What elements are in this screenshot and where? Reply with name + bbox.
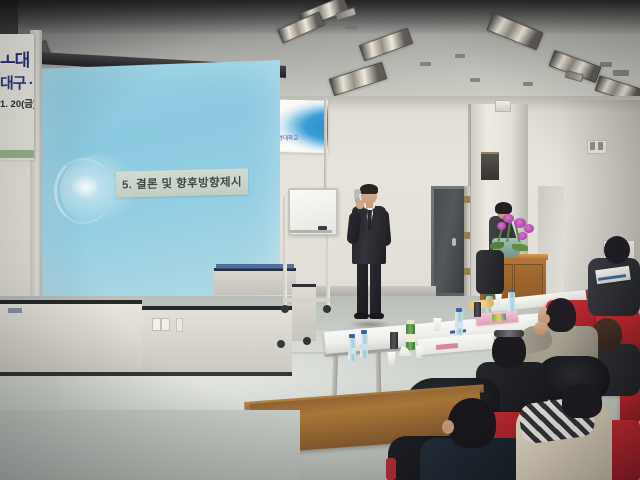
wall-speaker-icon	[481, 152, 499, 180]
switch-toggle[interactable]	[590, 142, 595, 150]
poster-accent-bar	[0, 150, 34, 158]
foreground-floor	[0, 410, 300, 480]
slide-heading: 5. 결론 및 향후방향제시	[122, 174, 242, 193]
orchid-flower	[518, 232, 527, 240]
whiteboard-stand-post	[326, 232, 330, 308]
attendee-head	[448, 398, 496, 448]
dark-can[interactable]	[390, 332, 398, 349]
poster-line-2: 대구 ·	[0, 72, 34, 93]
slide-text-box: 5. 결론 및 향후방향제시	[116, 168, 248, 197]
caster-wheel-icon	[303, 337, 311, 345]
seated-woman-hair	[495, 202, 512, 214]
presenter-leg-right	[370, 260, 381, 316]
orchid-leaf	[490, 242, 504, 249]
water-bottle[interactable]	[508, 292, 515, 312]
presenter-leg-left	[357, 260, 368, 316]
projector-hotspot	[72, 176, 98, 198]
whiteboard-marker[interactable]	[318, 226, 327, 230]
door-hinge	[464, 232, 470, 239]
attendee-ear	[442, 420, 454, 434]
presenter-shoe-left	[354, 313, 369, 319]
heater-badge	[8, 308, 22, 313]
ceiling-fixture	[420, 62, 431, 66]
attendee-head	[604, 236, 630, 264]
poster-line-3: 1. 20(금) 1	[0, 96, 34, 110]
presenter-shoe-right	[369, 313, 384, 319]
wall-outlet[interactable]	[161, 318, 170, 331]
whiteboard-marker-tray	[290, 230, 332, 233]
ceiling-fixture	[455, 54, 465, 58]
attendee-head	[492, 332, 526, 368]
bottle-label	[360, 344, 368, 350]
photograph-lecture-hall-presentation: 발표회 표회 대구대학교 한경대학교 5. 결론 및 향후방향제시 ㅗ대 대구 …	[0, 0, 640, 480]
whiteboard[interactable]	[288, 188, 338, 236]
baseboard-heater-cover	[142, 306, 292, 376]
switch-toggle[interactable]	[598, 142, 603, 150]
whiteboard-crossbar	[283, 298, 330, 302]
ceiling-fixture	[345, 25, 357, 29]
orchid-flower	[524, 224, 534, 233]
baseboard-heater-cover	[292, 284, 316, 341]
presenter-hand	[356, 200, 364, 209]
glasses-icon	[494, 330, 524, 337]
door-hinge	[464, 268, 470, 275]
door-handle[interactable]	[452, 238, 456, 246]
orchid-leaf	[512, 244, 528, 251]
wall-air-vent	[495, 100, 511, 112]
gift-box-artwork	[492, 313, 507, 321]
wall-outlet[interactable]	[176, 318, 183, 332]
caster-wheel-icon	[281, 305, 289, 313]
presenter-hair	[360, 184, 378, 194]
ceiling-vent	[613, 70, 629, 76]
bottle-label	[455, 322, 463, 328]
ceiling-fixture	[470, 78, 480, 82]
attendee-head	[562, 384, 602, 418]
orchid-flower	[503, 214, 514, 223]
attendee-head	[546, 298, 576, 332]
door-hinge	[464, 196, 470, 203]
seat-back-visible	[386, 458, 396, 480]
seated-attendee-dark	[476, 250, 504, 294]
wall-outlet[interactable]	[152, 318, 161, 331]
poster-line-1: ㅗ대	[0, 46, 34, 71]
caster-wheel-icon	[277, 340, 285, 348]
open-doorway[interactable]	[434, 189, 464, 293]
ceiling-fixture	[600, 62, 612, 67]
attendee-hand	[534, 322, 547, 335]
orchid-flower	[497, 222, 506, 230]
bottle-label	[406, 334, 415, 342]
dark-can[interactable]	[474, 302, 481, 317]
caster-wheel-icon	[323, 305, 331, 313]
bottle-label	[348, 348, 356, 354]
ceiling-fixture	[523, 82, 533, 86]
microphone-capsule	[354, 189, 361, 195]
whiteboard-stand-post	[283, 196, 287, 308]
